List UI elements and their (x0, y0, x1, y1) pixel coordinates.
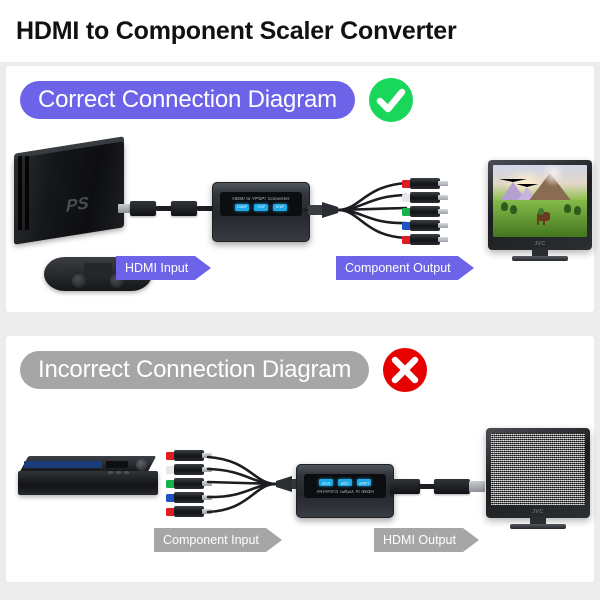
arrow-hdmi-output: HDMI Output (374, 528, 479, 552)
page-title: HDMI to Component Scaler Converter (16, 17, 456, 46)
tv-brand-label: JVC (533, 509, 544, 515)
rca-connector-white (402, 192, 448, 203)
converter-button-1080p[interactable]: 1080P (357, 479, 371, 486)
tv-screen-game (493, 165, 587, 237)
arrow-component-input-label: Component Input (154, 528, 266, 552)
television-correct: JVC (488, 160, 592, 250)
converter-face: HDMI to YPbPr Converter 1080P 720P 576P (304, 474, 386, 498)
arrow-component-input: Component Input (154, 528, 282, 552)
dvd-player (18, 456, 158, 502)
correct-badge-row: Correct Connection Diagram (20, 78, 413, 122)
rca-connector-red-1 (402, 178, 448, 189)
rca-connector-green (402, 206, 448, 217)
converter-box-correct: HDMI to YPbPr Converter 1080P 720P 576P (212, 182, 310, 242)
cross-mark-icon (383, 348, 427, 392)
diagram-page: HDMI to Component Scaler Converter Corre… (0, 0, 600, 600)
incorrect-connection-panel: Incorrect Connection Diagram (6, 336, 594, 582)
converter-button-720p[interactable]: 720P (254, 204, 268, 211)
correct-connection-panel: Correct Connection Diagram PS (6, 66, 594, 312)
converter-button-576p[interactable]: 576P (273, 204, 287, 211)
rca-connector-group-correct (402, 176, 458, 250)
tv-screen-static (491, 433, 585, 505)
incorrect-badge-row: Incorrect Connection Diagram (20, 348, 427, 392)
check-mark-icon (369, 78, 413, 122)
arrow-hdmi-input-label: HDMI Input (116, 256, 195, 280)
hdmi-cable-output (390, 476, 500, 498)
converter-face: HDMI to YPbPr Converter 1080P 720P 576P (220, 192, 302, 216)
converter-button-1080p[interactable]: 1080P (235, 204, 249, 211)
tv-bezel: JVC (486, 428, 590, 518)
arrow-hdmi-input: HDMI Input (116, 256, 211, 280)
arrow-hdmi-output-label: HDMI Output (374, 528, 463, 552)
converter-button-720p[interactable]: 720P (338, 479, 352, 486)
converter-buttons: 1080P 720P 576P (235, 204, 287, 211)
rca-connector-blue (402, 220, 448, 231)
converter-box-incorrect: HDMI to YPbPr Converter 1080P 720P 576P (296, 464, 394, 518)
incorrect-badge-label: Incorrect Connection Diagram (20, 351, 369, 389)
tv-bezel: JVC (488, 160, 592, 250)
correct-badge-label: Correct Connection Diagram (20, 81, 355, 119)
converter-label: HDMI to YPbPr Converter (316, 488, 373, 493)
converter-button-576p[interactable]: 576P (319, 479, 333, 486)
rca-connector-red-2 (402, 234, 448, 245)
converter-buttons: 1080P 720P 576P (319, 479, 371, 486)
arrow-component-output-label: Component Output (336, 256, 458, 280)
arrow-component-output: Component Output (336, 256, 474, 280)
converter-label: HDMI to YPbPr Converter (232, 197, 289, 202)
hdmi-cable-input (118, 198, 218, 220)
tv-brand-label: JVC (535, 241, 546, 247)
television-incorrect: JVC (486, 428, 590, 518)
title-bar: HDMI to Component Scaler Converter (0, 0, 600, 62)
component-breakout-cable (192, 448, 312, 524)
